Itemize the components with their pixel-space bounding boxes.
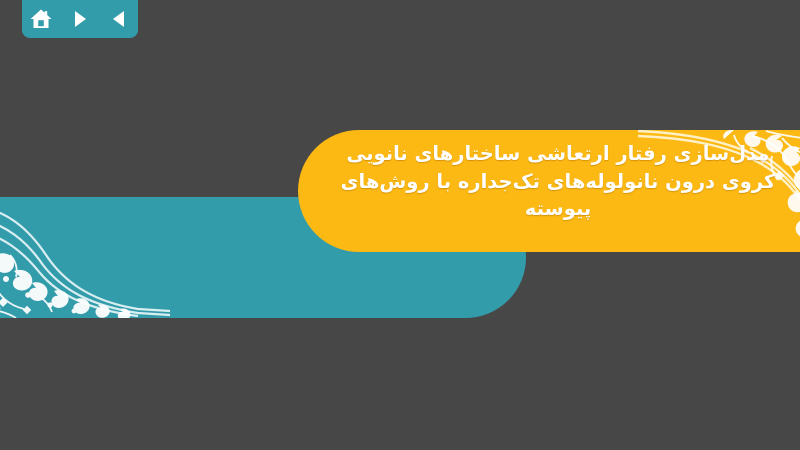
title-line-1: مدل‌سازی رفتار ارتعاشی ساختارهای نانویی (324, 140, 792, 168)
home-icon (29, 7, 53, 31)
previous-slide-button[interactable] (104, 5, 134, 33)
title-line-2: کروی درون نانولوله‌های تک‌جداره با روش‌ه… (324, 168, 792, 196)
arabesque-ornament-icon (0, 197, 170, 318)
title-banner: مدل‌سازی رفتار ارتعاشی ساختارهای نانویی … (298, 130, 800, 252)
home-button[interactable] (26, 5, 56, 33)
page-title: مدل‌سازی رفتار ارتعاشی ساختارهای نانویی … (298, 130, 800, 223)
navigation-toolbar (22, 0, 138, 38)
next-slide-button[interactable] (65, 5, 95, 33)
slide-canvas: مدل‌سازی رفتار ارتعاشی ساختارهای نانویی … (0, 0, 800, 450)
triangle-left-icon (108, 8, 130, 30)
triangle-right-icon (69, 8, 91, 30)
title-line-3: پیوسته (324, 195, 792, 223)
